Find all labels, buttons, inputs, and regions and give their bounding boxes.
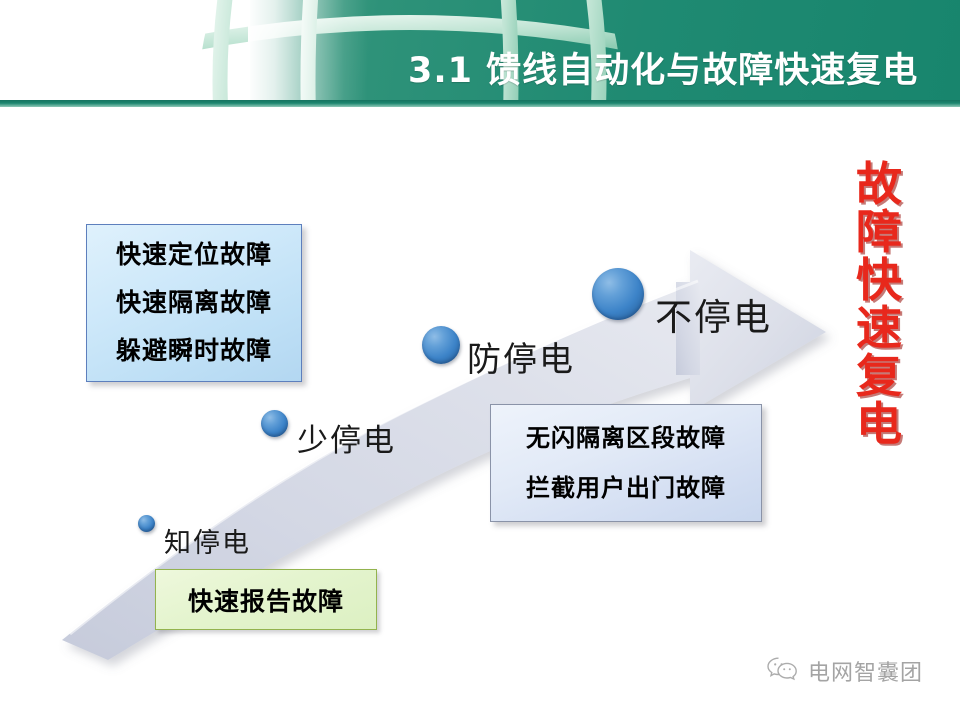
milestone-sphere-1 <box>138 515 155 532</box>
capability-box-line-2: 快速隔离故障 <box>116 279 272 327</box>
milestone-label-1: 知停电 <box>164 521 251 560</box>
page-title: 3.1 馈线自动化与故障快速复电 <box>408 42 918 93</box>
capability-box-line-3: 躲避瞬时故障 <box>116 327 272 375</box>
slide-header: 3.1 馈线自动化与故障快速复电 <box>0 0 960 100</box>
wechat-icon <box>766 655 800 687</box>
capability-box[interactable]: 快速定位故障 快速隔离故障 躲避瞬时故障 <box>86 224 302 382</box>
milestone-sphere-3 <box>422 326 460 364</box>
milestone-label-2: 少停电 <box>297 415 396 460</box>
side-banner-char-1: 故 <box>856 160 902 208</box>
header-fade-overlay <box>248 0 368 100</box>
milestone-sphere-2 <box>261 410 288 437</box>
side-banner-char-3: 快 <box>856 256 902 304</box>
report-box-line-1: 快速报告故障 <box>188 582 344 618</box>
side-banner-char-6: 电 <box>856 400 902 448</box>
slide-canvas: 3.1 馈线自动化与故障快速复电 <box>0 0 960 720</box>
watermark: 电网智囊团 <box>766 655 923 687</box>
isolation-box-line-1: 无闪隔离区段故障 <box>526 413 726 463</box>
side-banner: 故 障 快 速 复 电 <box>848 160 910 448</box>
milestone-sphere-4 <box>592 268 644 320</box>
isolation-box-line-2: 拦截用户出门故障 <box>526 463 726 513</box>
report-box[interactable]: 快速报告故障 <box>155 569 377 630</box>
watermark-text: 电网智囊团 <box>808 655 923 687</box>
capability-box-line-1: 快速定位故障 <box>116 231 272 279</box>
isolation-box[interactable]: 无闪隔离区段故障 拦截用户出门故障 <box>490 404 762 522</box>
side-banner-char-4: 速 <box>856 304 902 352</box>
milestone-label-3: 防停电 <box>467 332 575 381</box>
side-banner-char-2: 障 <box>856 208 902 256</box>
side-banner-char-5: 复 <box>856 352 902 400</box>
growth-arrow-graphic <box>0 100 960 720</box>
milestone-label-4: 不停电 <box>655 287 772 341</box>
